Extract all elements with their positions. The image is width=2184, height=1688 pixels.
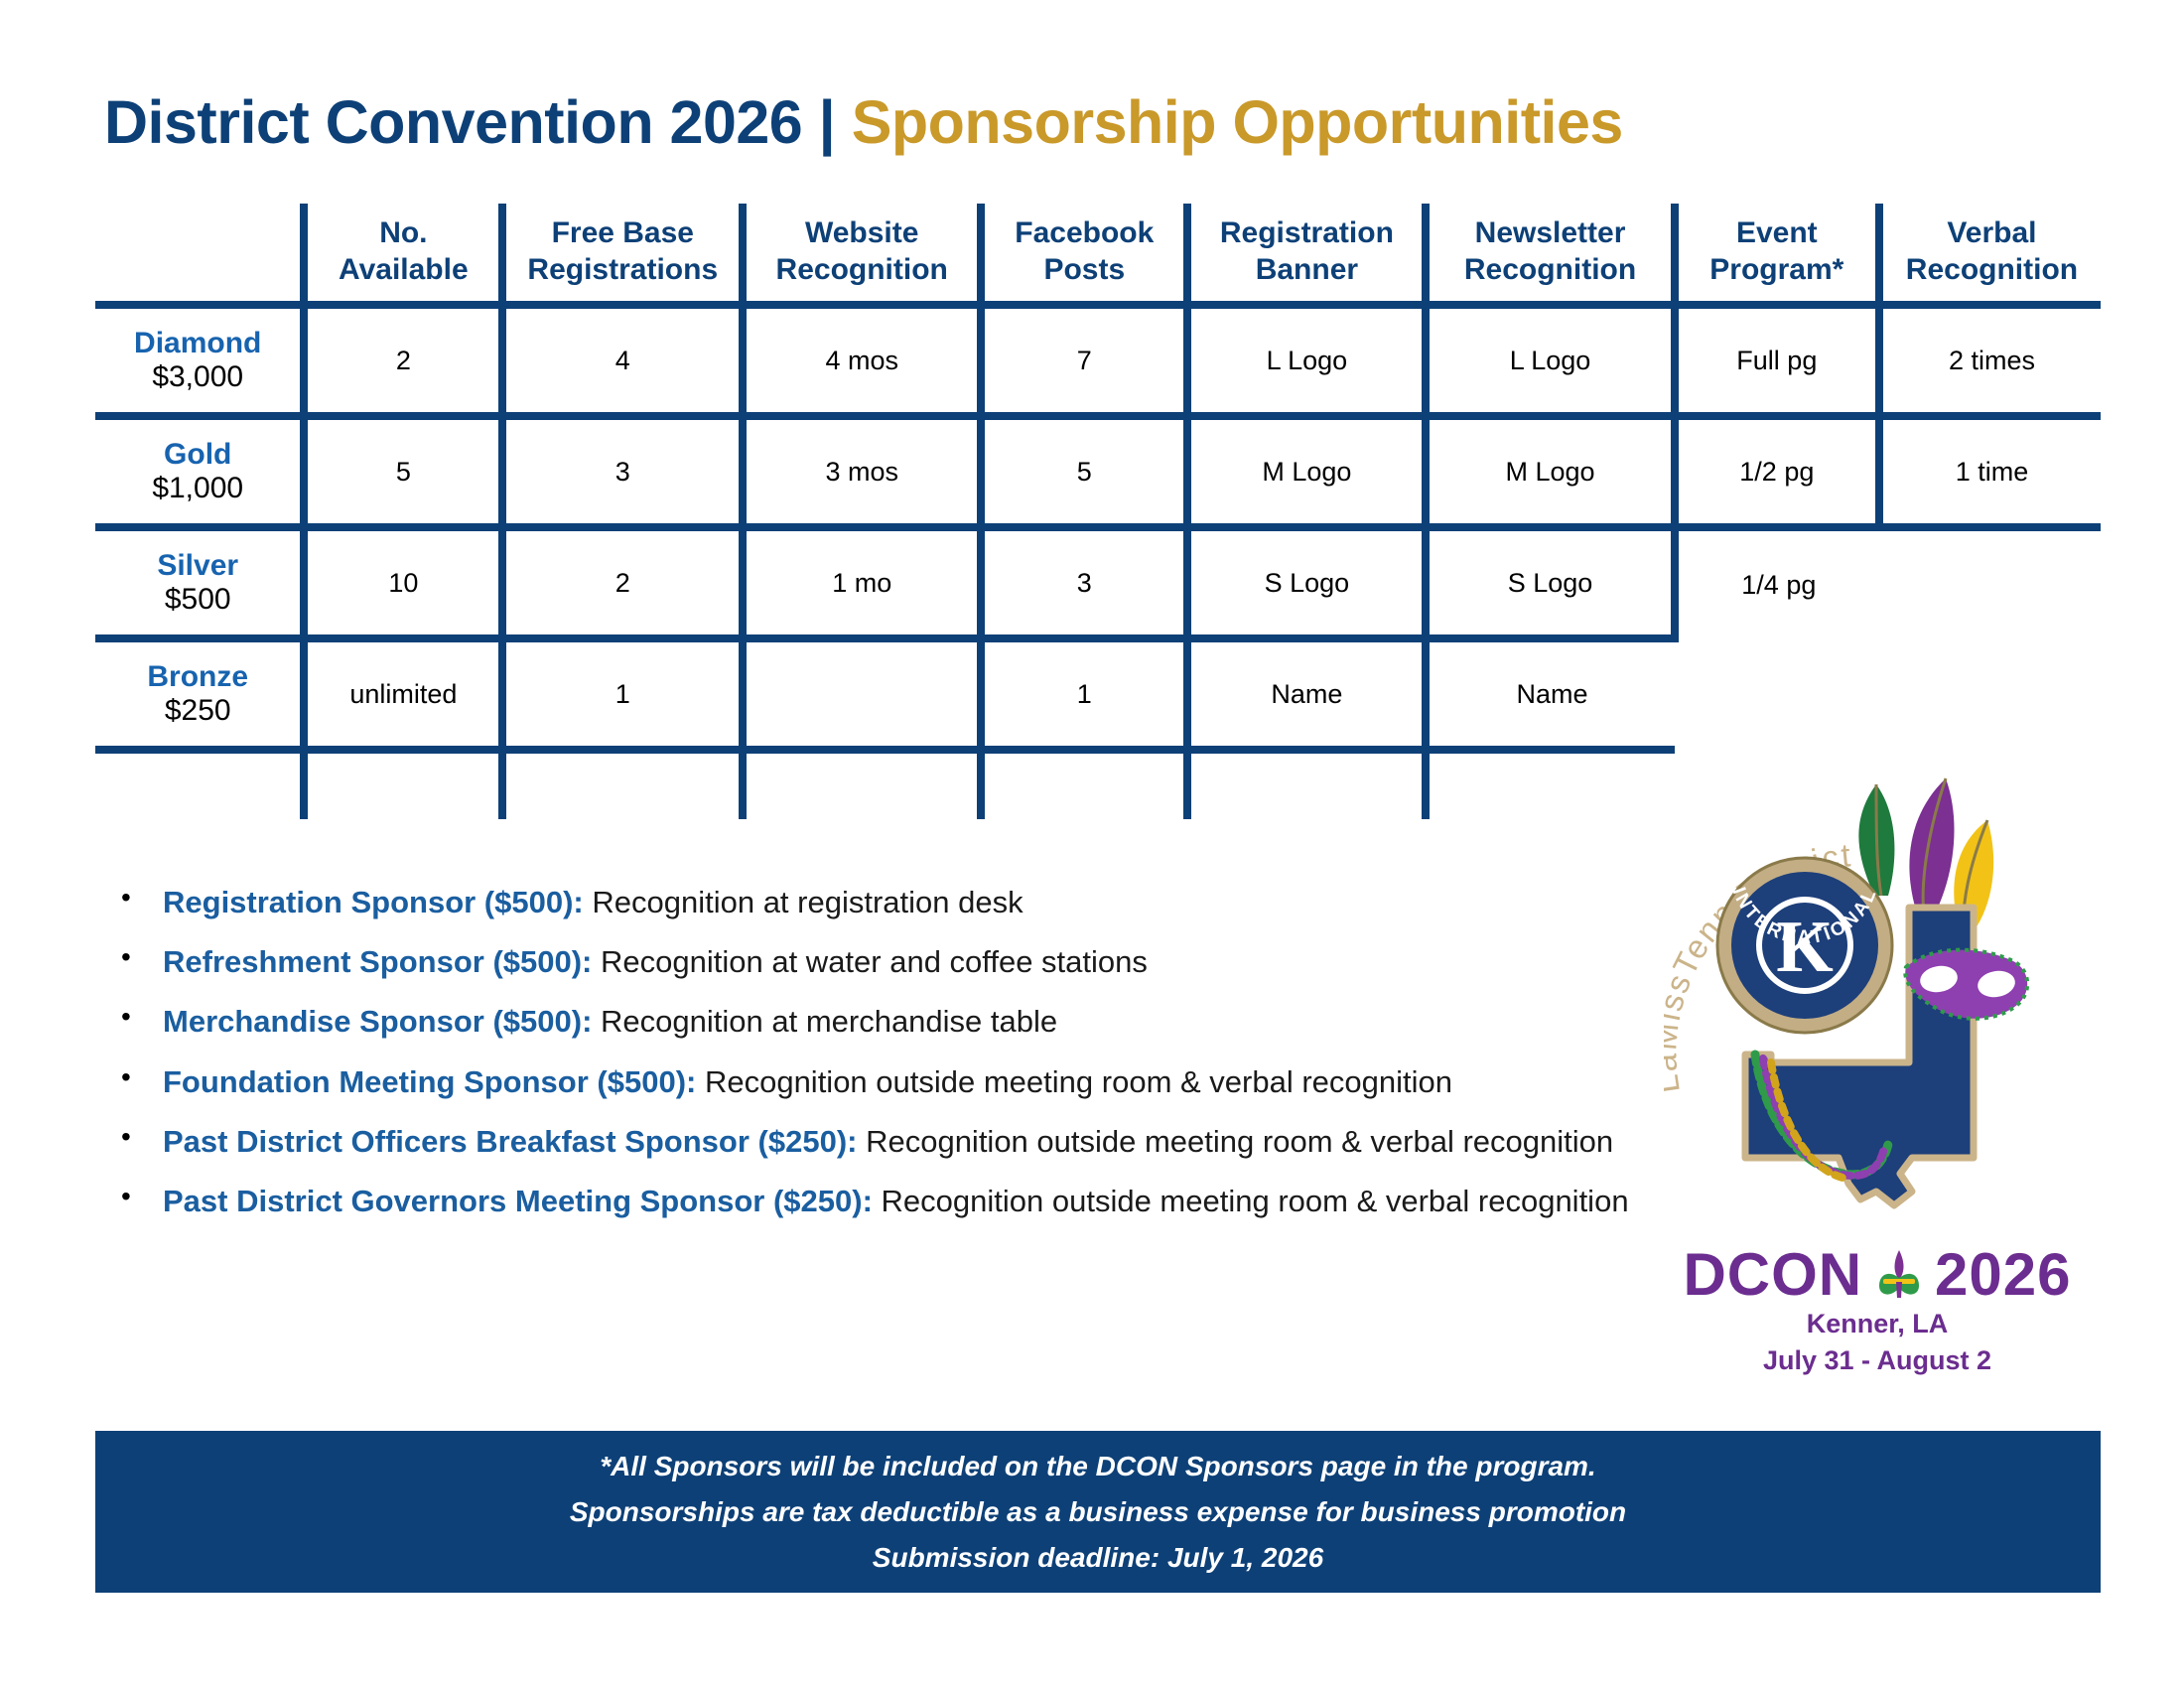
cell-registration-banner: L Logo [1187, 305, 1426, 416]
cell-registration-banner: S Logo [1187, 527, 1426, 638]
trailing-cell [502, 750, 743, 819]
dcon-wordmark: DCON 2026 [1664, 1240, 2091, 1309]
table-header-website-recognition: Website Recognition [743, 204, 981, 305]
header-line-1: Verbal [1947, 216, 2036, 249]
sponsorship-table: No. Available Free Base Registrations We… [95, 204, 2101, 819]
header-line-2: Recognition [776, 253, 948, 286]
header-line-2: Posts [1043, 253, 1125, 286]
footer-line-1: *All Sponsors will be included on the DC… [600, 1453, 1595, 1480]
cell-free-base-registrations: 3 [502, 416, 743, 527]
trailing-cell [304, 750, 502, 819]
tier-price: $250 [95, 694, 300, 728]
cell-no-available: unlimited [304, 638, 502, 750]
cell-event-program: Full pg [1675, 305, 1879, 416]
header-line-2: Recognition [1906, 253, 2078, 286]
cell-verbal-recognition: 1 time [1879, 416, 2101, 527]
list-item: Merchandise Sponsor ($500): Recognition … [95, 1001, 1644, 1042]
list-item: Past District Officers Breakfast Sponsor… [95, 1121, 1644, 1162]
header-line-1: Registration [1220, 216, 1394, 249]
additional-sponsorships-list: Registration Sponsor ($500): Recognition… [95, 882, 1644, 1240]
header-line-2: Banner [1256, 253, 1358, 286]
table-row: Gold $1,000 5 3 3 mos 5 M Logo M Logo 1/… [95, 416, 2101, 527]
header-line-1: Website [805, 216, 918, 249]
list-item-lead: Refreshment Sponsor ($500): [163, 944, 592, 979]
cell-event-program: 1/4 pg [1675, 527, 1879, 638]
cell-verbal-recognition: 2 times [1879, 305, 2101, 416]
cell-no-available: 5 [304, 416, 502, 527]
table-row: Diamond $3,000 2 4 4 mos 7 L Logo L Logo… [95, 305, 2101, 416]
table-header-registration-banner: Registration Banner [1187, 204, 1426, 305]
cell-facebook-posts: 3 [981, 527, 1187, 638]
cell-website-recognition: 4 mos [743, 305, 981, 416]
feather-purple-icon [1909, 778, 1954, 915]
list-item-rest: Recognition outside meeting room & verba… [696, 1064, 1452, 1099]
footer-banner: *All Sponsors will be included on the DC… [95, 1431, 2101, 1593]
footer-line-3: Submission deadline: July 1, 2026 [873, 1544, 1323, 1572]
dcon-word-right: 2026 [1935, 1241, 2071, 1308]
cell-no-available: 10 [304, 527, 502, 638]
cell-newsletter-recognition: S Logo [1426, 527, 1674, 638]
cell-registration-banner: Name [1187, 638, 1426, 750]
tier-name: Silver [95, 549, 300, 583]
list-item-lead: Past District Officers Breakfast Sponsor… [163, 1124, 857, 1159]
cell-no-available: 2 [304, 305, 502, 416]
tier-cell-diamond: Diamond $3,000 [95, 305, 304, 416]
cell-verbal-recognition [1879, 527, 2101, 638]
page-title: District Convention 2026 | Sponsorship O… [104, 87, 2100, 157]
cell-website-recognition: 3 mos [743, 416, 981, 527]
list-item-rest: Recognition at merchandise table [592, 1004, 1057, 1039]
table-header-no-available: No. Available [304, 204, 502, 305]
tier-price: $500 [95, 583, 300, 617]
list-item-rest: Recognition outside meeting room & verba… [857, 1124, 1613, 1159]
seal-top-text: KIWANIS [1740, 769, 1868, 810]
tier-cell-gold: Gold $1,000 [95, 416, 304, 527]
table-header-event-program: Event Program* [1675, 204, 1879, 305]
list-item-rest: Recognition at registration desk [584, 885, 1024, 919]
page-title-accent: Sponsorship Opportunities [852, 88, 1623, 156]
logo-illustration-svg: LaMissTenn District [1664, 757, 2091, 1233]
list-item-rest: Recognition outside meeting room & verba… [873, 1184, 1629, 1218]
cell-registration-banner: M Logo [1187, 416, 1426, 527]
tier-name: Gold [95, 438, 300, 472]
list-item: Past District Governors Meeting Sponsor … [95, 1181, 1644, 1221]
header-line-1: Free Base [552, 216, 694, 249]
dcon-dates: July 31 - August 2 [1664, 1345, 2091, 1376]
cell-facebook-posts: 7 [981, 305, 1187, 416]
trailing-cell [1426, 750, 1674, 819]
header-line-1: Event [1736, 216, 1818, 249]
tier-price: $1,000 [95, 472, 300, 505]
dcon-logo-block: LaMissTenn District [1664, 757, 2091, 1392]
header-line-1: Facebook [1015, 216, 1154, 249]
tier-cell-bronze: Bronze $250 [95, 638, 304, 750]
list-item: Registration Sponsor ($500): Recognition… [95, 882, 1644, 922]
kiwanis-lamisstenn-logo: LaMissTenn District [1664, 757, 2091, 1233]
fleur-de-lis-icon [1875, 1248, 1923, 1305]
table-header-newsletter-recognition: Newsletter Recognition [1426, 204, 1674, 305]
header-line-1: No. [379, 216, 427, 249]
list-item: Refreshment Sponsor ($500): Recognition … [95, 941, 1644, 982]
trailing-tier-cell [95, 750, 304, 819]
tier-cell-silver: Silver $500 [95, 527, 304, 638]
table-row: Bronze $250 unlimited 1 1 Name Name [95, 638, 2101, 750]
cell-verbal-recognition [1879, 638, 2101, 750]
header-line-2: Available [339, 253, 469, 286]
trailing-cell [743, 750, 981, 819]
page-title-main: District Convention 2026 | [104, 88, 852, 156]
cell-website-recognition [743, 638, 981, 750]
table-header-row: No. Available Free Base Registrations We… [95, 204, 2101, 305]
feather-green-icon [1858, 784, 1894, 896]
list-item-lead: Merchandise Sponsor ($500): [163, 1004, 592, 1039]
cell-newsletter-recognition: Name [1426, 638, 1674, 750]
table-header-verbal-recognition: Verbal Recognition [1879, 204, 2101, 305]
cell-event-program: 1/2 pg [1675, 416, 1879, 527]
tier-name: Diamond [95, 327, 300, 360]
cell-newsletter-recognition: M Logo [1426, 416, 1674, 527]
cell-facebook-posts: 5 [981, 416, 1187, 527]
header-line-2: Program* [1709, 253, 1843, 286]
list-item: Foundation Meeting Sponsor ($500): Recog… [95, 1061, 1644, 1102]
footer-line-2: Sponsorships are tax deductible as a bus… [570, 1498, 1626, 1526]
dcon-word-left: DCON [1683, 1241, 1862, 1308]
table-header-free-base-registrations: Free Base Registrations [502, 204, 743, 305]
header-line-2: Registrations [527, 253, 718, 286]
cell-website-recognition: 1 mo [743, 527, 981, 638]
header-line-2: Recognition [1464, 253, 1636, 286]
table-header-tier [95, 204, 304, 305]
tier-name: Bronze [95, 660, 300, 694]
cell-newsletter-recognition: L Logo [1426, 305, 1674, 416]
trailing-cell [1187, 750, 1426, 819]
tier-price: $3,000 [95, 360, 300, 394]
cell-free-base-registrations: 1 [502, 638, 743, 750]
sponsorship-table-wrapper: No. Available Free Base Registrations We… [95, 204, 2101, 819]
cell-facebook-posts: 1 [981, 638, 1187, 750]
dcon-city: Kenner, LA [1664, 1309, 2091, 1339]
table-row: Silver $500 10 2 1 mo 3 S Logo S Logo 1/… [95, 527, 2101, 638]
header-line-1: Newsletter [1475, 216, 1626, 249]
list-item-lead: Registration Sponsor ($500): [163, 885, 584, 919]
cell-event-program [1675, 638, 1879, 750]
list-item-rest: Recognition at water and coffee stations [592, 944, 1148, 979]
cell-free-base-registrations: 2 [502, 527, 743, 638]
table-header-facebook-posts: Facebook Posts [981, 204, 1187, 305]
list-item-lead: Foundation Meeting Sponsor ($500): [163, 1064, 696, 1099]
cell-free-base-registrations: 4 [502, 305, 743, 416]
list-item-lead: Past District Governors Meeting Sponsor … [163, 1184, 873, 1218]
trailing-cell [981, 750, 1187, 819]
